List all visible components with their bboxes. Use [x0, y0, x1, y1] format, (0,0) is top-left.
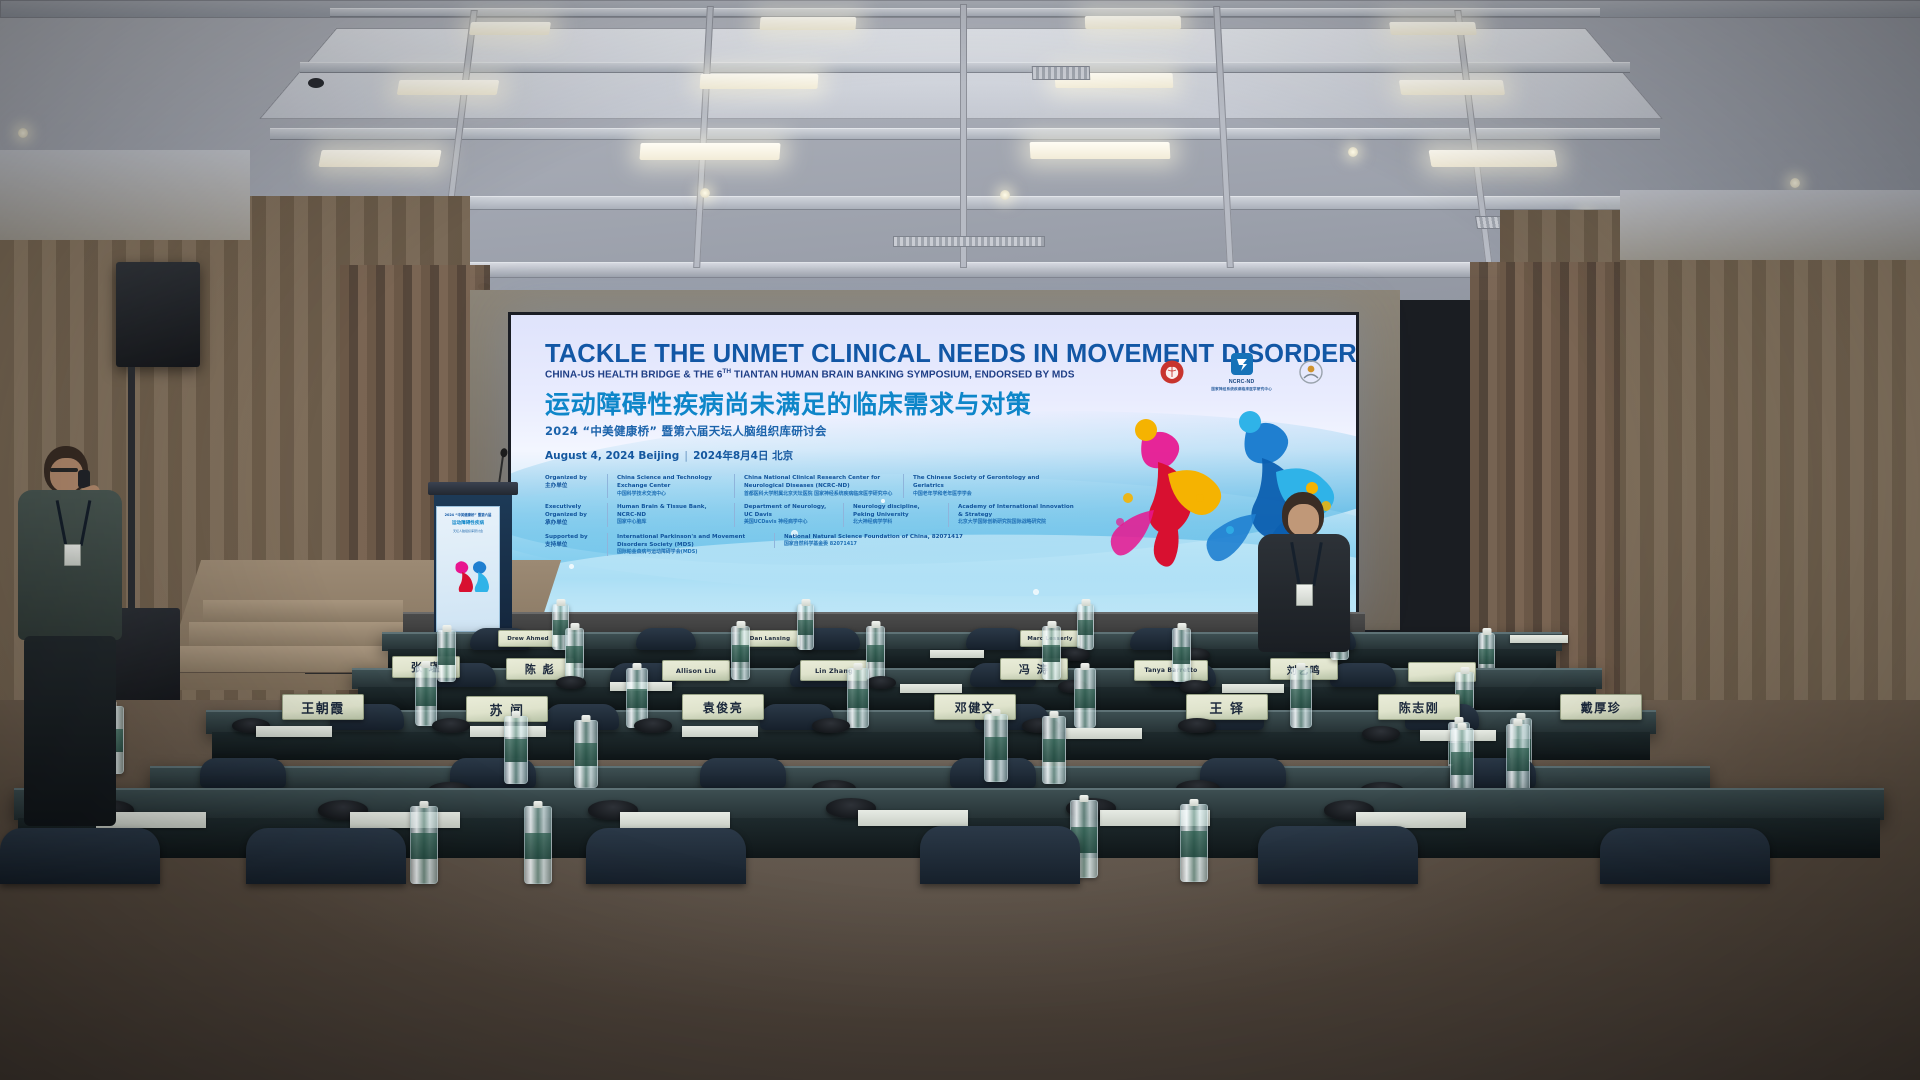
water-bottle[interactable] — [1077, 604, 1094, 650]
podium-runner-icon — [446, 558, 490, 592]
credit-cell-en: Department of Neurology, UC Davis — [744, 503, 834, 519]
credit-cell-cn: 北大神经病学学科 — [853, 519, 939, 526]
credit-cell-cn: 北京大学国际创新研究院国际战略研究院 — [958, 519, 1076, 526]
podium-panel-line3: 天坛人脑组织库研讨会 — [453, 529, 483, 533]
water-bottle[interactable] — [410, 806, 438, 884]
credit-cell-cn: 首都医科大学附属北京天坛医院 国家神经系统疾病临床医学研究中心 — [744, 491, 894, 498]
credit-cell-cn: 中国老年学和老年医学学会 — [913, 491, 1053, 498]
water-bottle[interactable] — [574, 720, 598, 788]
headset[interactable] — [1362, 726, 1400, 741]
water-bottle[interactable] — [797, 604, 814, 650]
credit-label-cn: 主办单位 — [545, 482, 607, 490]
date-cn: 2024年8月4日 北京 — [693, 450, 793, 462]
credit-cell: Neurology discipline, Peking University … — [843, 503, 948, 526]
water-bottle[interactable] — [1172, 628, 1191, 682]
nameplate-text: 邓健文 — [955, 699, 996, 716]
slide-credits: Organized by 主办单位 China Science and Tech… — [545, 474, 1338, 556]
credit-cell-cn: 中国科学技术交流中心 — [617, 491, 725, 498]
credit-cell-cn: 国际帕金森病与运动障碍学会(MDS) — [617, 549, 765, 556]
upper-right-wall — [1620, 190, 1920, 260]
water-bottle[interactable] — [847, 668, 869, 728]
credit-row-organized-by: Organized by 主办单位 China Science and Tech… — [545, 474, 1338, 497]
water-bottle[interactable] — [1042, 716, 1066, 784]
credit-row-executively-organized-by: Executively Organized by 承办单位 Human Brai… — [545, 503, 1338, 527]
headset[interactable] — [1178, 718, 1216, 733]
date-separator: | — [684, 450, 688, 462]
credit-label: Supported by 支持单位 — [545, 533, 607, 549]
water-bottle[interactable] — [1506, 724, 1530, 794]
headset[interactable] — [812, 718, 850, 733]
credit-cell: Department of Neurology, UC Davis 美国UCDa… — [734, 503, 843, 526]
date-en: August 4, 2024 Beijing — [545, 450, 679, 462]
document-paper — [858, 810, 968, 826]
ncrc-shield-icon — [1229, 351, 1255, 377]
screen-content: NCRC-ND 国家神经系统疾病临床医学研究中心 TACKLE THE UNME… — [511, 315, 1356, 615]
upper-left-wall — [0, 150, 250, 240]
nameplate-wang-duo: 王 铎 — [1186, 694, 1268, 720]
credit-cell: China Science and Technology Exchange Ce… — [607, 474, 734, 497]
conference-room-photo: NCRC-ND 国家神经系统疾病临床医学研究中心 TACKLE THE UNME… — [0, 0, 1920, 1080]
nameplate-text: Allison Liu — [676, 667, 716, 675]
credit-cell: Academy of International Innovation & St… — [948, 503, 1085, 526]
credit-cell-en: Human Brain & Tissue Bank, NCRC-ND — [617, 503, 725, 519]
credit-cell-cn: 国家自然科学基金委 82071417 — [784, 541, 964, 548]
credit-cell-en: National Natural Science Foundation of C… — [784, 533, 964, 541]
podium-panel-line2: 运动障碍性疾病 — [452, 520, 484, 526]
ceiling-air-vent — [1032, 66, 1090, 80]
person-right-standing — [1252, 492, 1356, 662]
nameplate-allison-liu: Allison Liu — [662, 660, 730, 681]
credit-cell-en: Academy of International Innovation & St… — [958, 503, 1076, 519]
subtitle-ordinal: TH — [722, 368, 731, 375]
nameplate-text: Dan Lansing — [750, 636, 790, 642]
water-bottle[interactable] — [984, 714, 1008, 782]
headset[interactable] — [556, 676, 586, 689]
mds-globe-icon — [1298, 359, 1324, 385]
ceiling-air-vent — [893, 236, 1045, 247]
nameplate-text: 王 铎 — [1209, 698, 1244, 717]
credit-label-cn: 承办单位 — [545, 519, 607, 527]
nameplate-wang-chaoxia: 王朝霞 — [282, 694, 364, 720]
credit-label-en: Supported by — [545, 533, 607, 541]
lower-body — [24, 636, 116, 826]
water-bottle[interactable] — [565, 628, 584, 680]
credit-cell: Human Brain & Tissue Bank, NCRC-ND 国家中心脑… — [607, 503, 734, 526]
credit-label-en: Executively Organized by — [545, 503, 607, 519]
credit-label-cn: 支持单位 — [545, 541, 607, 549]
person-left-standing — [4, 446, 134, 816]
nameplate-chen-zhigang: 陈志刚 — [1378, 694, 1460, 720]
subtitle-part-b: TIANTAN HUMAN BRAIN BANKING SYMPOSIUM, E… — [731, 369, 1074, 380]
credit-cell: The Chinese Society of Gerontology and G… — [903, 474, 1062, 497]
credit-cell: International Parkinson's and Movement D… — [607, 533, 774, 556]
podium-graphic-panel: 2024 “中美健康桥” 暨第六届 运动障碍性疾病 天坛人脑组织库研讨会 — [436, 506, 500, 632]
credit-cell-en: International Parkinson's and Movement D… — [617, 533, 765, 549]
logo-beijing-tiantan-hospital — [1159, 359, 1185, 385]
water-bottle[interactable] — [1074, 668, 1096, 728]
pa-speaker-top — [116, 262, 200, 367]
water-bottle[interactable] — [731, 626, 750, 680]
presentation-screen: NCRC-ND 国家神经系统疾病临床医学研究中心 TACKLE THE UNME… — [508, 312, 1359, 618]
credit-cell-en: China National Clinical Research Center … — [744, 474, 894, 490]
slide-date-line: August 4, 2024 Beijing|2024年8月4日 北京 — [545, 448, 1338, 463]
document-paper — [1066, 728, 1142, 739]
nameplate-text: 王朝霞 — [301, 698, 345, 717]
headset[interactable] — [866, 676, 896, 689]
nameplate-text: Drew Ahmed — [507, 636, 549, 642]
credit-cell-cn: 美国UCDavis 神经病学中心 — [744, 519, 834, 526]
chair — [920, 826, 1080, 884]
badge — [64, 544, 81, 566]
document-paper — [620, 812, 730, 828]
logo-mds — [1298, 359, 1324, 385]
slide-subtitle-cn: 2024 “中美健康桥” 暨第六届天坛人脑组织库研讨会 — [545, 423, 1338, 439]
water-bottle[interactable] — [1180, 804, 1208, 882]
water-bottle[interactable] — [1290, 668, 1312, 728]
water-bottle[interactable] — [437, 630, 456, 682]
nameplate-text: 陈志刚 — [1399, 699, 1440, 716]
logo-ncrc-nd: NCRC-ND 国家神经系统疾病临床医学研究中心 — [1211, 351, 1272, 392]
nameplate-text: 戴厚珍 — [1581, 699, 1622, 716]
podium-top — [428, 482, 518, 495]
document-paper — [256, 726, 332, 737]
ceiling-speaker — [308, 78, 324, 88]
credit-cell-en: China Science and Technology Exchange Ce… — [617, 474, 725, 490]
water-bottle[interactable] — [1042, 626, 1061, 680]
credit-cell-en: The Chinese Society of Gerontology and G… — [913, 474, 1053, 490]
water-bottle[interactable] — [524, 806, 552, 884]
nameplate-dai-houzhen: 戴厚珍 — [1560, 694, 1642, 720]
podium-panel-line1: 2024 “中美健康桥” 暨第六届 — [445, 513, 492, 517]
credit-cell: National Natural Science Foundation of C… — [774, 533, 973, 548]
chair — [1600, 828, 1770, 884]
document-paper — [930, 650, 984, 658]
nameplate-text: 陈 彪 — [525, 661, 555, 677]
headset[interactable] — [634, 718, 672, 733]
badge — [1296, 584, 1313, 606]
chair — [1258, 826, 1418, 884]
slide-logo-row: NCRC-ND 国家神经系统疾病临床医学研究中心 — [1159, 351, 1324, 392]
chair — [0, 828, 160, 884]
credit-label: Executively Organized by 承办单位 — [545, 503, 607, 527]
nameplate-text: 袁俊亮 — [703, 699, 744, 716]
credit-label: Organized by 主办单位 — [545, 474, 607, 490]
chair — [246, 828, 406, 884]
nameplate-tanya-barretto: Tanya Barretto — [1134, 660, 1208, 681]
credit-cell-cn: 国家中心脑库 — [617, 519, 725, 526]
credit-cell-en: Neurology discipline, Peking University — [853, 503, 939, 519]
water-bottle[interactable] — [504, 716, 528, 784]
document-paper — [1510, 635, 1568, 643]
document-paper — [1222, 684, 1284, 693]
water-bottle[interactable] — [415, 666, 437, 726]
nameplate-drew-ahmed: Drew Ahmed — [498, 630, 558, 647]
document-paper — [350, 812, 460, 828]
brain-circle-icon — [1159, 359, 1185, 385]
credit-label-en: Organized by — [545, 474, 607, 482]
logo-ncrc-caption: NCRC-ND — [1229, 379, 1255, 385]
chair — [586, 828, 746, 884]
eyeglasses — [50, 468, 78, 472]
headset[interactable] — [432, 718, 470, 733]
headset[interactable] — [1180, 680, 1210, 693]
podium: 2024 “中美健康桥” 暨第六届 运动障碍性疾病 天坛人脑组织库研讨会 — [428, 482, 518, 637]
credit-cell: China National Clinical Research Center … — [734, 474, 903, 497]
document-paper — [682, 726, 758, 737]
nameplate-yuan-junliang: 袁俊亮 — [682, 694, 764, 720]
subtitle-part-a: CHINA-US HEALTH BRIDGE & THE 6 — [545, 369, 722, 380]
document-paper — [900, 684, 962, 693]
credit-row-supported-by: Supported by 支持单位 International Parkinso… — [545, 533, 1338, 556]
logo-ncrc-caption-cn: 国家神经系统疾病临床医学研究中心 — [1211, 387, 1272, 392]
